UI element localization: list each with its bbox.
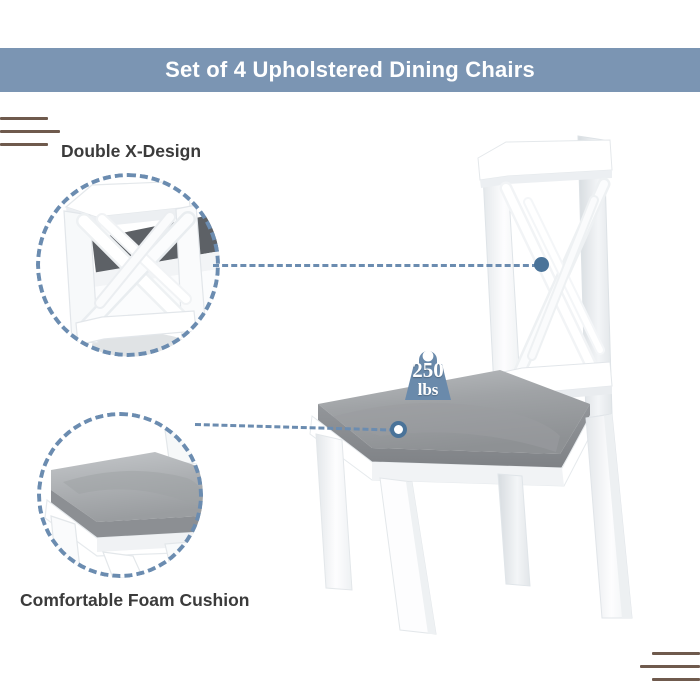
feature-caption-comfortable-foam-cushion: Comfortable Foam Cushion <box>20 590 249 611</box>
weight-unit: lbs <box>418 381 439 398</box>
callout-bottom-clip <box>37 412 203 578</box>
decor-rule-bottom-right-3 <box>652 678 700 681</box>
page-title: Set of 4 Upholstered Dining Chairs <box>165 57 535 83</box>
decor-rule-bottom-right-2 <box>640 665 700 668</box>
connector-endpoint-double-x-design <box>534 257 549 272</box>
decor-rule-top-left-2 <box>0 130 60 133</box>
callout-top-clip <box>36 173 220 357</box>
connector-line-double-x-design <box>213 264 538 267</box>
chair-svg <box>260 118 680 638</box>
callout-double-x-design <box>36 173 220 357</box>
foam-cushion-detail-svg <box>37 412 203 578</box>
decor-rule-top-left-3 <box>0 143 48 146</box>
callout-foam-cushion <box>37 412 203 578</box>
infographic-canvas: Set of 4 Upholstered Dining Chairs Doubl… <box>0 0 700 700</box>
weight-badge-text: 250 lbs <box>398 340 458 402</box>
weight-value: 250 <box>412 360 444 381</box>
feature-caption-double-x-design: Double X-Design <box>61 141 201 162</box>
weight-capacity-badge: 250 lbs <box>398 340 458 402</box>
double-x-detail-svg <box>36 173 220 357</box>
decor-rule-bottom-right-1 <box>652 652 700 655</box>
decor-rule-top-left-1 <box>0 117 48 120</box>
connector-endpoint-foam-cushion <box>390 421 407 438</box>
title-banner: Set of 4 Upholstered Dining Chairs <box>0 48 700 92</box>
chair-product-illustration <box>260 118 680 638</box>
